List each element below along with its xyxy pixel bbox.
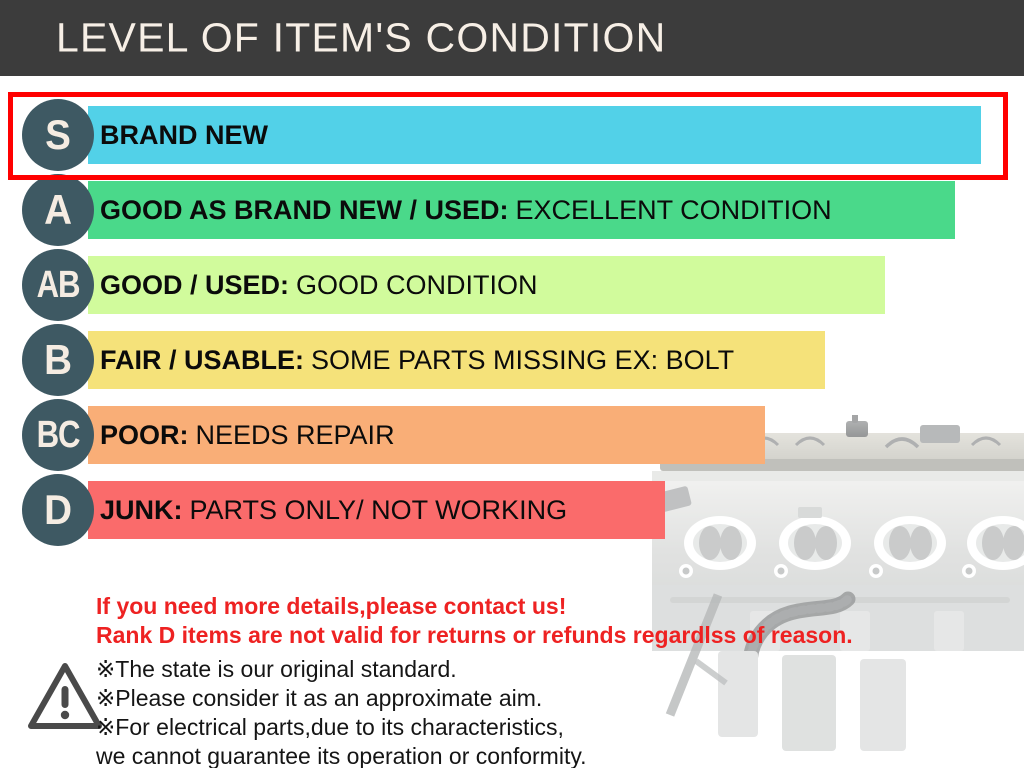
notes-block: ※The state is our original standard. ※Pl… xyxy=(96,655,587,768)
rank-row-d: DJUNK:PARTS ONLY/ NOT WORKING xyxy=(0,474,1024,548)
rank-badge-s: S xyxy=(22,99,94,171)
rank-row-ab: ABGOOD / USED:GOOD CONDITION xyxy=(0,249,1024,323)
rank-badge-a: A xyxy=(22,174,94,246)
rank-badge-label: A xyxy=(45,189,72,231)
rank-badge-ab: AB xyxy=(22,249,94,321)
rank-badge-label: B xyxy=(45,339,72,381)
rank-label-detail: GOOD CONDITION xyxy=(296,270,538,301)
rank-badge-label: AB xyxy=(37,266,80,304)
rank-row-s: SBRAND NEW xyxy=(0,99,1024,173)
rank-description-d: JUNK:PARTS ONLY/ NOT WORKING xyxy=(100,481,567,539)
notice-block: If you need more details,please contact … xyxy=(96,592,853,650)
rank-label-bold: BRAND NEW xyxy=(100,120,268,151)
rank-description-a: GOOD AS BRAND NEW / USED:EXCELLENT CONDI… xyxy=(100,181,832,239)
rank-description-s: BRAND NEW xyxy=(100,106,275,164)
note-line: ※For electrical parts,due to its charact… xyxy=(96,713,587,742)
rank-badge-label: BC xyxy=(37,416,80,454)
rank-row-a: AGOOD AS BRAND NEW / USED:EXCELLENT COND… xyxy=(0,174,1024,248)
rank-row-bc: BCPOOR:NEEDS REPAIR xyxy=(0,399,1024,473)
rank-label-detail: EXCELLENT CONDITION xyxy=(516,195,832,226)
rank-badge-b: B xyxy=(22,324,94,396)
rank-label-detail: SOME PARTS MISSING EX: BOLT xyxy=(311,345,734,376)
rank-label-bold: GOOD AS BRAND NEW / USED: xyxy=(100,195,509,226)
page-title: LEVEL OF ITEM'S CONDITION xyxy=(56,15,666,62)
rank-description-ab: GOOD / USED:GOOD CONDITION xyxy=(100,256,538,314)
rank-label-detail: PARTS ONLY/ NOT WORKING xyxy=(190,495,568,526)
rank-badge-bc: BC xyxy=(22,399,94,471)
rank-badge-d: D xyxy=(22,474,94,546)
rank-badge-label: D xyxy=(45,489,72,531)
rank-row-b: BFAIR / USABLE:SOME PARTS MISSING EX: BO… xyxy=(0,324,1024,398)
rank-label-bold: FAIR / USABLE: xyxy=(100,345,304,376)
rank-badge-label: S xyxy=(46,114,71,156)
rank-label-bold: JUNK: xyxy=(100,495,183,526)
rank-description-bc: POOR:NEEDS REPAIR xyxy=(100,406,395,464)
notice-line: Rank D items are not valid for returns o… xyxy=(96,621,853,650)
condition-chart-page: LEVEL OF ITEM'S CONDITION SBRAND NEWAGOO… xyxy=(0,0,1024,768)
note-line: we cannot guarantee its operation or con… xyxy=(96,742,587,768)
rank-description-b: FAIR / USABLE:SOME PARTS MISSING EX: BOL… xyxy=(100,331,734,389)
notice-line: If you need more details,please contact … xyxy=(96,592,853,621)
note-line: ※Please consider it as an approximate ai… xyxy=(96,684,587,713)
page-header: LEVEL OF ITEM'S CONDITION xyxy=(0,0,1024,76)
rank-label-bold: POOR: xyxy=(100,420,189,451)
rank-label-bold: GOOD / USED: xyxy=(100,270,289,301)
note-line: ※The state is our original standard. xyxy=(96,655,587,684)
warning-triangle-icon xyxy=(26,660,104,732)
rank-label-detail: NEEDS REPAIR xyxy=(196,420,395,451)
